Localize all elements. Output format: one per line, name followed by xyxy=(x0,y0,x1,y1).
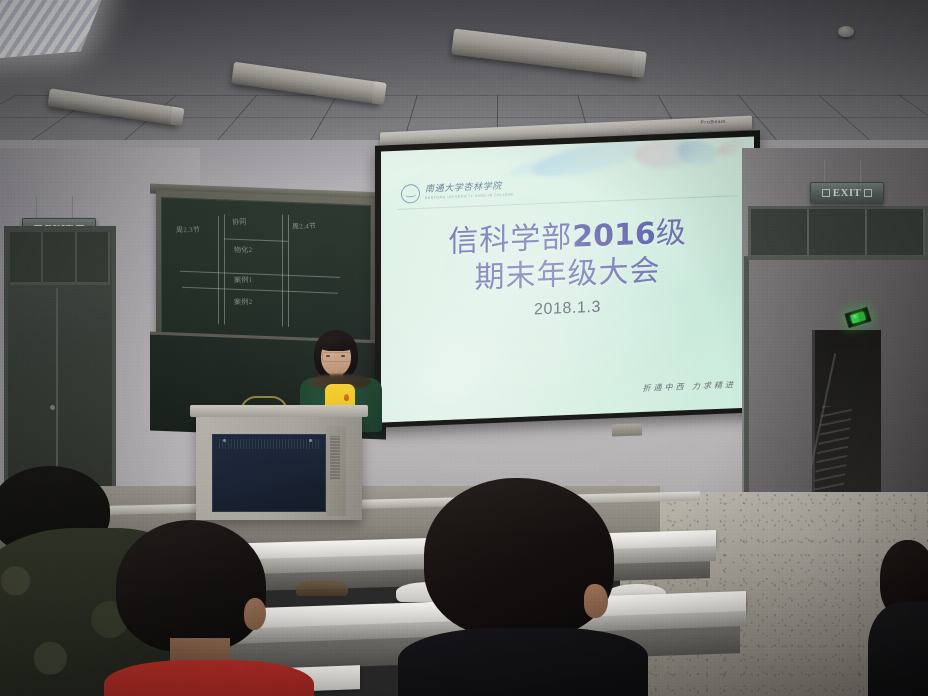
smoke-detector-icon xyxy=(838,26,854,37)
audience-dark-jacket xyxy=(868,602,928,696)
audience-head xyxy=(424,478,614,638)
exit-pictogram-icon xyxy=(864,189,872,197)
exit-sign-label: EXIT xyxy=(833,188,862,199)
title-suffix: 级 xyxy=(656,215,687,251)
fluorescent-panel-light xyxy=(0,0,107,61)
exit-pictogram-icon xyxy=(822,189,830,197)
exit-sign-rod xyxy=(824,160,825,184)
exit-sign-rod xyxy=(72,196,73,220)
title-prefix: 信科学部 xyxy=(448,220,572,260)
chalk-label: 周2.4节 xyxy=(292,221,317,231)
podium-top-surface xyxy=(190,405,368,417)
audience-center-dark xyxy=(424,478,684,696)
chalk-label: 物化2 xyxy=(234,245,253,255)
title-year: 2016 xyxy=(572,216,656,254)
presentation-slide: 南通大学杏林学院 NANTONG UNIVERSITY XINGLIN COLL… xyxy=(381,137,754,423)
podium-front-panel xyxy=(212,434,326,512)
eyeglasses-icon xyxy=(322,352,352,362)
chalk-label: 案例1 xyxy=(234,275,253,285)
audience-red-jacket xyxy=(104,660,314,696)
audience-head xyxy=(116,520,266,652)
right-transom-window xyxy=(748,206,928,258)
presenter-bangs xyxy=(318,336,355,351)
podium xyxy=(196,412,362,520)
chalk-label: 案例2 xyxy=(234,297,253,307)
podium-vent xyxy=(219,439,319,449)
university-logo: 南通大学杏林学院 NANTONG UNIVERSITY XINGLIN COLL… xyxy=(401,180,514,204)
screen-brand-label: ProBeam xyxy=(701,119,726,126)
presenter-badge xyxy=(344,394,349,401)
decorative-brush-stroke xyxy=(716,138,744,158)
projector-screen: 南通大学杏林学院 NANTONG UNIVERSITY XINGLIN COLL… xyxy=(375,130,760,427)
screen-mount-bracket xyxy=(612,423,642,436)
audience-dark-jacket xyxy=(398,628,648,696)
blackboard: 周2.3节 协同 物化2 案例1 案例2 周2.4节 xyxy=(156,190,376,350)
running-man-icon xyxy=(850,311,866,324)
podium-speaker-grille xyxy=(330,436,340,480)
ceiling-light-fixture-3 xyxy=(451,29,643,78)
transom-window xyxy=(10,232,110,285)
chalk-label: 周2.3节 xyxy=(176,225,201,235)
arc-logo-icon xyxy=(401,184,420,204)
chalk-label: 协同 xyxy=(232,217,247,227)
slide-motto: 折通中西 力求精进 xyxy=(642,379,736,394)
exit-sign-box: EXIT xyxy=(810,182,884,204)
exit-sign-rod xyxy=(860,160,861,184)
audience-ear xyxy=(244,598,266,630)
audience-front-red xyxy=(96,520,346,696)
door-knob-icon[interactable] xyxy=(50,405,55,410)
logo-name-en: NANTONG UNIVERSITY XINGLIN COLLEGE xyxy=(425,194,514,201)
exit-sign-right: EXIT xyxy=(810,160,880,206)
exit-sign-rod xyxy=(36,196,37,220)
audience-ear xyxy=(584,584,608,618)
blackboard-surface: 周2.3节 协同 物化2 案例1 案例2 周2.4节 xyxy=(161,197,371,342)
lecture-hall-photo: EXIT 周2.3节 协同 物化2 案例1 案例2 周2.4节 ProBea xyxy=(0,0,928,696)
slide-title: 信科学部2016级 期末年级大会 xyxy=(381,213,754,301)
audience-right-edge xyxy=(880,540,928,696)
